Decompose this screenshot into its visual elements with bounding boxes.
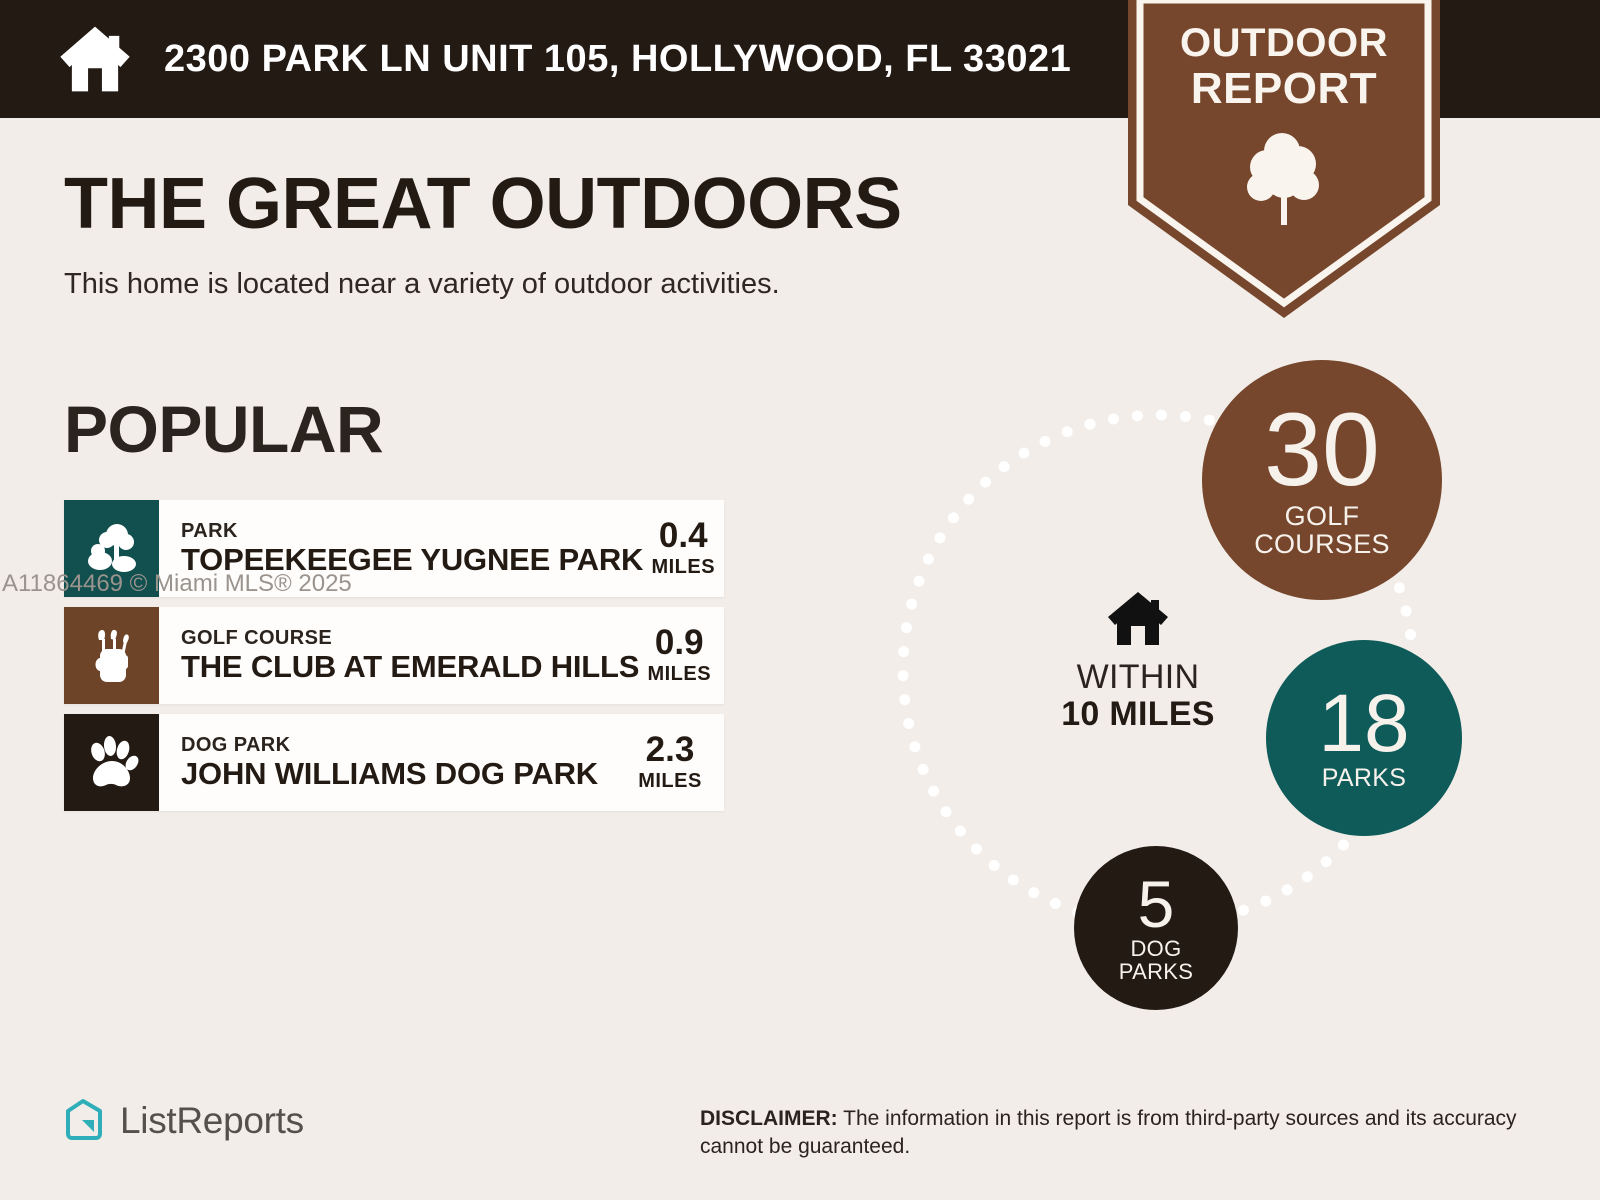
disclaimer: DISCLAIMER: The information in this repo… (700, 1105, 1520, 1162)
list-item[interactable]: DOG PARK JOHN WILLIAMS DOG PARK 2.3 MILE… (64, 714, 724, 811)
poi-distance-unit: MILES (651, 556, 715, 579)
stat-label-line-1: PARKS (1322, 765, 1406, 791)
park-trees-icon (84, 521, 140, 577)
poi-distance: 0.4 MILES (643, 518, 723, 579)
poi-name: TOPEEKEEGEE YUGNEE PARK (181, 542, 643, 578)
poi-name: THE CLUB AT EMERALD HILLS (181, 649, 639, 685)
poi-category: PARK (181, 520, 643, 542)
stat-circle-parks[interactable]: 18 PARKS (1266, 640, 1462, 836)
poi-icon-tile (64, 500, 159, 597)
disclaimer-label: DISCLAIMER: (700, 1107, 838, 1130)
poi-category: DOG PARK (181, 734, 598, 756)
stat-value: 18 (1318, 685, 1409, 763)
poi-name: JOHN WILLIAMS DOG PARK (181, 756, 598, 792)
title-block: THE GREAT OUTDOORS This home is located … (64, 168, 902, 301)
home-icon (58, 24, 132, 94)
page-subtitle: This home is located near a variety of o… (64, 268, 902, 301)
poi-distance-unit: MILES (638, 770, 702, 793)
stat-label-line-2: PARKS (1119, 960, 1193, 983)
stat-value: 5 (1138, 873, 1175, 936)
stat-circle-golf-courses[interactable]: 30 GOLF COURSES (1202, 360, 1442, 600)
list-item[interactable]: PARK TOPEEKEEGEE YUGNEE PARK 0.4 MILES (64, 500, 724, 597)
golf-bag-icon (86, 628, 138, 684)
paw-print-icon (85, 735, 139, 791)
poi-distance-value: 0.9 (655, 625, 704, 660)
poi-distance: 0.9 MILES (639, 625, 719, 686)
outdoor-report-badge: OUTDOOR REPORT (1128, 0, 1440, 318)
center-label-line-2: 10 MILES (1038, 696, 1238, 733)
home-icon (1106, 590, 1170, 647)
diagram-center-label: WITHIN 10 MILES (1038, 590, 1238, 734)
poi-texts: GOLF COURSE THE CLUB AT EMERALD HILLS (181, 627, 639, 685)
poi-distance: 2.3 MILES (630, 732, 710, 793)
center-label-line-1: WITHIN (1038, 659, 1238, 696)
stat-value: 30 (1264, 401, 1380, 500)
poi-distance-value: 0.4 (659, 518, 708, 553)
within-10-miles-diagram: 30 GOLF COURSES 18 PARKS 5 DOG PARKS WIT… (840, 340, 1540, 1040)
page-title: THE GREAT OUTDOORS (64, 168, 902, 240)
poi-texts: DOG PARK JOHN WILLIAMS DOG PARK (181, 734, 598, 792)
badge-line-1: OUTDOOR (1128, 22, 1440, 65)
stat-label-line-2: COURSES (1254, 530, 1390, 558)
listreports-logo-text: ListReports (120, 1100, 304, 1142)
listreports-logo[interactable]: ListReports (62, 1098, 304, 1144)
poi-category: GOLF COURSE (181, 627, 639, 649)
badge-line-2: REPORT (1128, 65, 1440, 113)
poi-body: DOG PARK JOHN WILLIAMS DOG PARK 2.3 MILE… (159, 714, 724, 811)
poi-icon-tile (64, 607, 159, 704)
poi-icon-tile (64, 714, 159, 811)
poi-distance-value: 2.3 (646, 732, 695, 767)
poi-distance-unit: MILES (647, 663, 711, 686)
badge-title: OUTDOOR REPORT (1128, 22, 1440, 113)
stat-label-line-1: GOLF (1285, 502, 1360, 530)
stat-circle-dog-parks[interactable]: 5 DOG PARKS (1074, 846, 1238, 1010)
property-address: 2300 PARK LN UNIT 105, HOLLYWOOD, FL 330… (164, 38, 1071, 81)
poi-texts: PARK TOPEEKEEGEE YUGNEE PARK (181, 520, 643, 578)
popular-heading: POPULAR (64, 396, 383, 462)
list-item[interactable]: GOLF COURSE THE CLUB AT EMERALD HILLS 0.… (64, 607, 724, 704)
popular-poi-list: PARK TOPEEKEEGEE YUGNEE PARK 0.4 MILES (64, 500, 724, 821)
listreports-house-icon (62, 1098, 106, 1144)
stat-label-line-1: DOG (1130, 937, 1181, 960)
poi-body: GOLF COURSE THE CLUB AT EMERALD HILLS 0.… (159, 607, 733, 704)
poi-body: PARK TOPEEKEEGEE YUGNEE PARK 0.4 MILES (159, 500, 737, 597)
